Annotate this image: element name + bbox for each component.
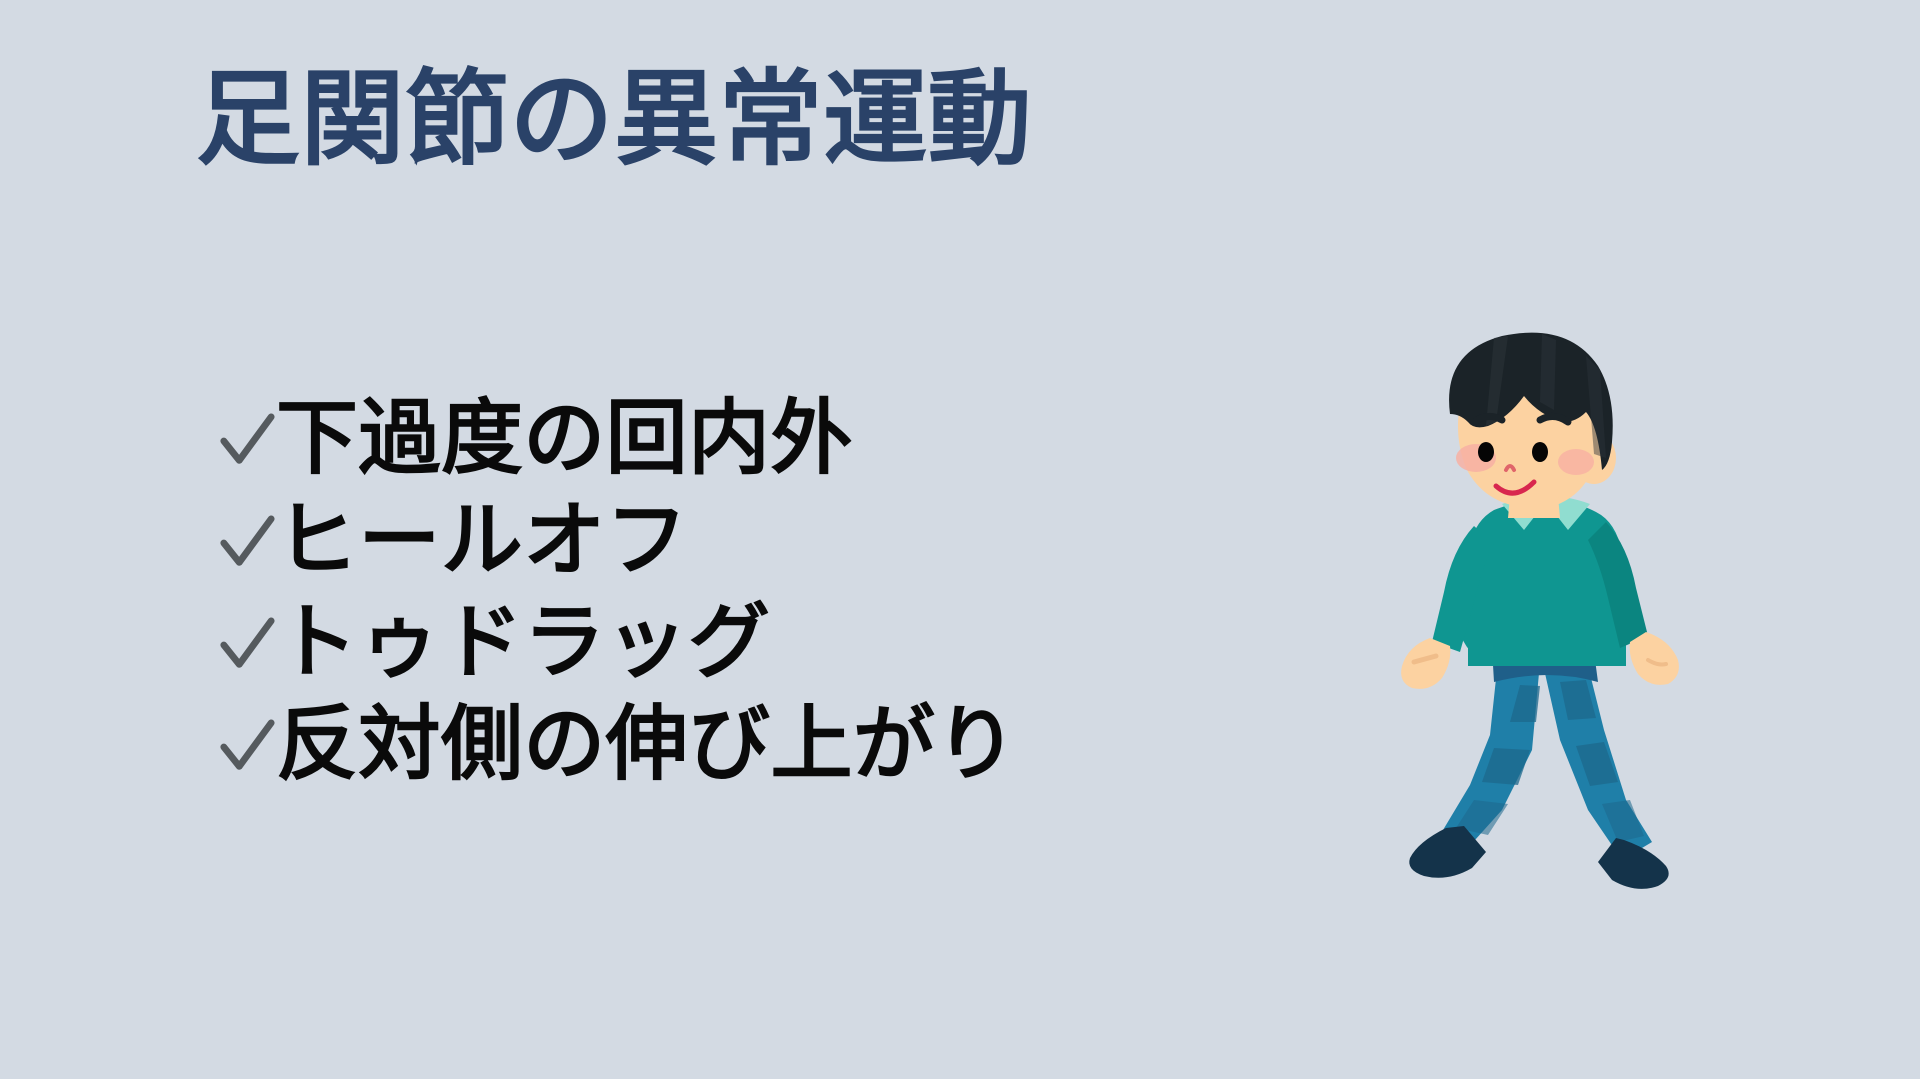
list-item: 反対側の伸び上がり [218,704,1258,806]
check-mark-icon [218,412,276,470]
neck [1508,496,1560,518]
list-item: ヒールオフ [218,500,1258,602]
walking-man-illustration [1390,330,1720,950]
leg-back [1440,660,1540,850]
eye-right [1532,442,1548,462]
list-item-label: 反対側の伸び上がり [276,704,1018,786]
leg-front [1542,658,1652,860]
check-mark-icon [218,514,276,572]
slide-canvas: 足関節の異常運動 下過度の回内外 ヒールオフ [0,0,1920,1079]
head [1449,333,1616,509]
eye-left [1478,442,1494,462]
slide-title: 足関節の異常運動 [196,58,1032,181]
bullet-list: 下過度の回内外 ヒールオフ トゥドラッグ [218,398,1258,806]
cheek-right [1558,449,1594,475]
list-item-label: 下過度の回内外 [276,398,853,480]
list-item-label: トゥドラッグ [276,602,770,684]
shoe-front [1598,838,1669,889]
list-item-label: ヒールオフ [276,500,688,582]
list-item: トゥドラッグ [218,602,1258,704]
check-mark-icon [218,616,276,674]
list-item: 下過度の回内外 [218,398,1258,500]
check-mark-icon [218,718,276,776]
